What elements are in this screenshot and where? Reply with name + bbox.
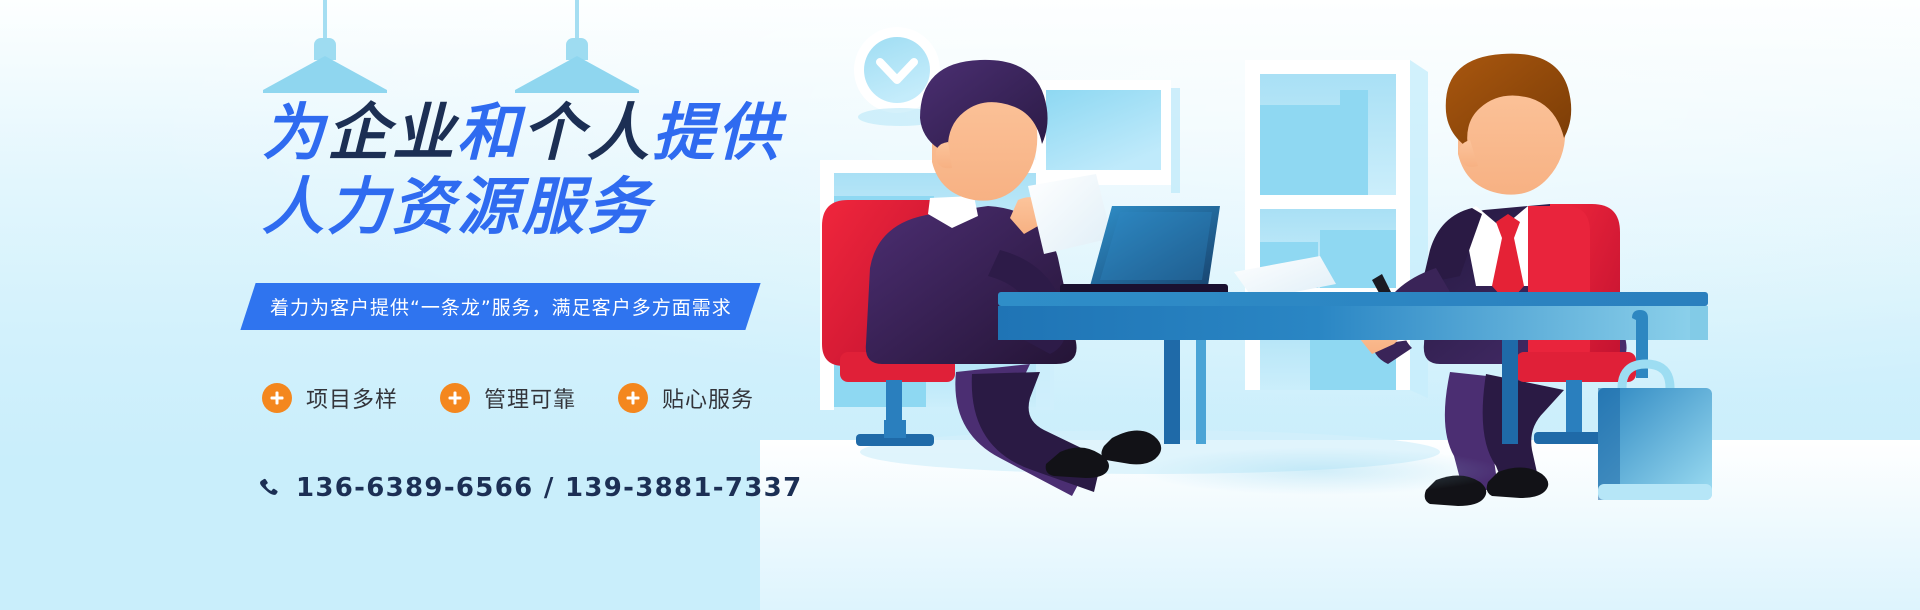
- plus-icon: [440, 383, 470, 413]
- headline-part-5: 提供: [652, 96, 782, 169]
- feature-label-3: 贴心服务: [662, 382, 754, 414]
- headline-part-3: 和: [457, 96, 522, 169]
- headline-line-2: 人力资源服务: [262, 170, 782, 244]
- feature-item-3[interactable]: 贴心服务: [618, 382, 754, 414]
- phone-icon: [258, 477, 280, 499]
- framed-picture-icon: [1036, 80, 1180, 193]
- phone-number: 136-6389-6566 / 139-3881-7337: [296, 473, 802, 503]
- office-interview-illustration: [760, 0, 1920, 610]
- contact-phone[interactable]: 136-6389-6566 / 139-3881-7337: [258, 473, 802, 503]
- banner-text-column: 为企业和个人提供 人力资源服务 着力为客户提供“一条龙”服务，满足客户多方面需求…: [0, 0, 820, 610]
- page-title: 为企业和个人提供 人力资源服务: [262, 96, 782, 244]
- headline-part-2: 企业: [327, 96, 457, 169]
- feature-list: 项目多样 管理可靠 贴心服务: [262, 382, 754, 414]
- plus-icon: [262, 383, 292, 413]
- headline-line-1: 为企业和个人提供: [262, 96, 782, 170]
- plus-icon: [618, 383, 648, 413]
- subtitle-text: 着力为客户提供“一条龙”服务，满足客户多方面需求: [270, 293, 732, 320]
- subtitle-banner: 着力为客户提供“一条龙”服务，满足客户多方面需求: [240, 283, 760, 330]
- hr-services-banner: 为企业和个人提供 人力资源服务 着力为客户提供“一条龙”服务，满足客户多方面需求…: [0, 0, 1920, 610]
- headline-part-1: 为: [262, 96, 327, 169]
- feature-label-1: 项目多样: [306, 382, 398, 414]
- floor-shadow: [1060, 437, 1580, 505]
- feature-item-2[interactable]: 管理可靠: [440, 382, 576, 414]
- feature-item-1[interactable]: 项目多样: [262, 382, 398, 414]
- headline-part-4: 个人: [522, 96, 652, 169]
- feature-label-2: 管理可靠: [484, 382, 576, 414]
